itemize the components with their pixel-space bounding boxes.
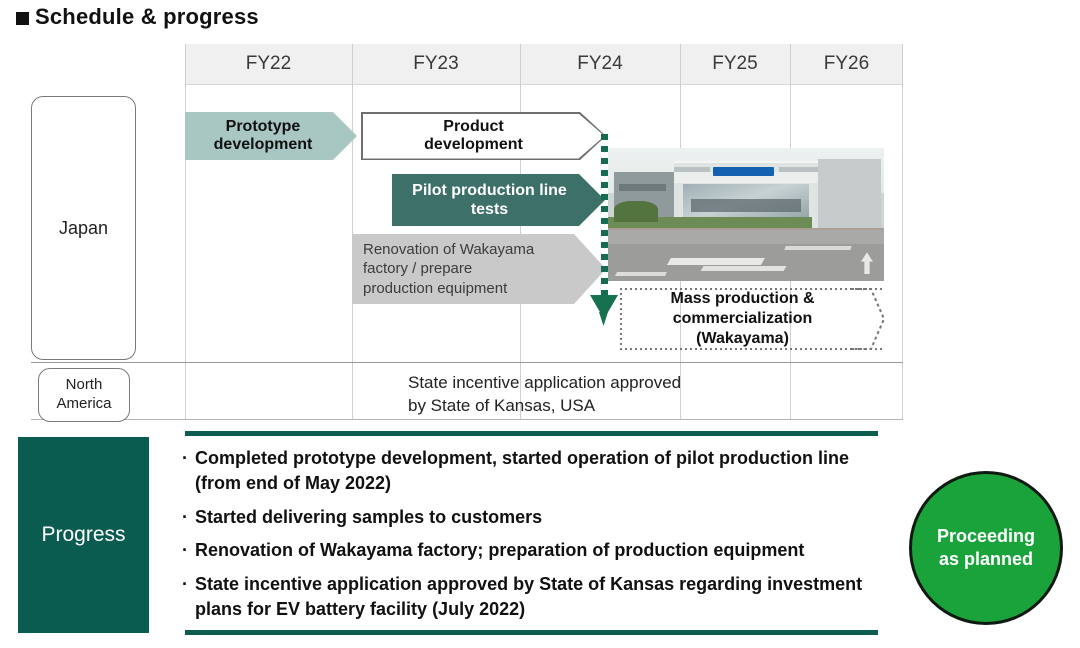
progress-panel-label: Progress xyxy=(18,437,149,633)
square-bullet-icon xyxy=(16,12,29,25)
list-item-text: State incentive application approved by … xyxy=(195,572,895,622)
progress-bullet-list: · Completed prototype development, start… xyxy=(182,446,912,631)
progress-rule-top xyxy=(185,431,878,436)
bar-product-development[interactable]: Product development xyxy=(361,112,606,160)
status-badge-text: Proceeding as planned xyxy=(937,525,1035,572)
bar-product-development-label: Product development xyxy=(361,118,606,155)
timeline-column-fy22: FY22 xyxy=(185,44,352,84)
list-item: · State incentive application approved b… xyxy=(182,572,912,622)
bullet-marker-icon: · xyxy=(182,505,188,530)
photo-road-marking-2 xyxy=(700,266,786,271)
timeline-column-fy25: FY25 xyxy=(680,44,790,84)
photo-facade-strip-right xyxy=(779,167,818,172)
north-america-note: State incentive application approved by … xyxy=(408,372,828,418)
bar-renovation-wakayama-label: Renovation of Wakayama factory / prepare… xyxy=(352,240,606,299)
photo-road-marking-4 xyxy=(615,272,667,276)
page-title-text: Schedule & progress xyxy=(35,4,259,30)
region-label-north-america: North America xyxy=(38,368,130,422)
photo-facade-strip-left xyxy=(674,167,710,172)
region-label-north-america-text: North America xyxy=(56,376,111,414)
bar-pilot-production-line-tests[interactable]: Pilot production line tests xyxy=(392,174,605,226)
list-item: · Renovation of Wakayama factory; prepar… xyxy=(182,538,912,563)
list-item-text: Completed prototype development, started… xyxy=(195,446,895,496)
bullet-marker-icon: · xyxy=(182,538,188,563)
page-title: Schedule & progress xyxy=(16,4,259,30)
row-separator-north-america xyxy=(31,419,903,420)
list-item-text: Started delivering samples to customers xyxy=(195,505,542,530)
bar-prototype-development-label: Prototype development xyxy=(185,118,357,155)
bullet-marker-icon: · xyxy=(182,446,188,471)
milestone-connector-line xyxy=(601,134,608,302)
status-badge: Proceeding as planned xyxy=(909,471,1063,625)
photo-tree xyxy=(614,201,658,222)
photo-building-left-windows xyxy=(619,184,666,191)
bar-mass-production-label: Mass production & commercialization (Wak… xyxy=(620,289,885,349)
list-item: · Completed prototype development, start… xyxy=(182,446,912,496)
list-item: · Started delivering samples to customer… xyxy=(182,505,912,530)
row-separator-japan xyxy=(31,362,903,363)
bar-renovation-wakayama[interactable]: Renovation of Wakayama factory / prepare… xyxy=(352,234,606,304)
timeline-column-fy26: FY26 xyxy=(790,44,903,84)
photo-glass-reflection xyxy=(691,199,801,212)
photo-building-right xyxy=(818,159,881,231)
timeline-column-fy23: FY23 xyxy=(352,44,520,84)
bar-mass-production-commercialization[interactable]: Mass production & commercialization (Wak… xyxy=(620,288,885,350)
bar-prototype-development[interactable]: Prototype development xyxy=(185,112,357,160)
photo-road-marking-1 xyxy=(667,258,765,265)
wakayama-factory-photo xyxy=(608,148,884,281)
panasonic-logo-icon xyxy=(713,167,774,176)
timeline-column-fy24: FY24 xyxy=(520,44,680,84)
photo-road-marking-3 xyxy=(784,246,852,250)
slide-canvas: Schedule & progress FY22 FY23 FY24 FY25 … xyxy=(0,0,1080,648)
region-label-japan: Japan xyxy=(31,96,136,360)
bullet-marker-icon: · xyxy=(182,572,188,597)
bar-pilot-production-line-tests-label: Pilot production line tests xyxy=(392,181,605,219)
list-item-text: Renovation of Wakayama factory; preparat… xyxy=(195,538,804,563)
